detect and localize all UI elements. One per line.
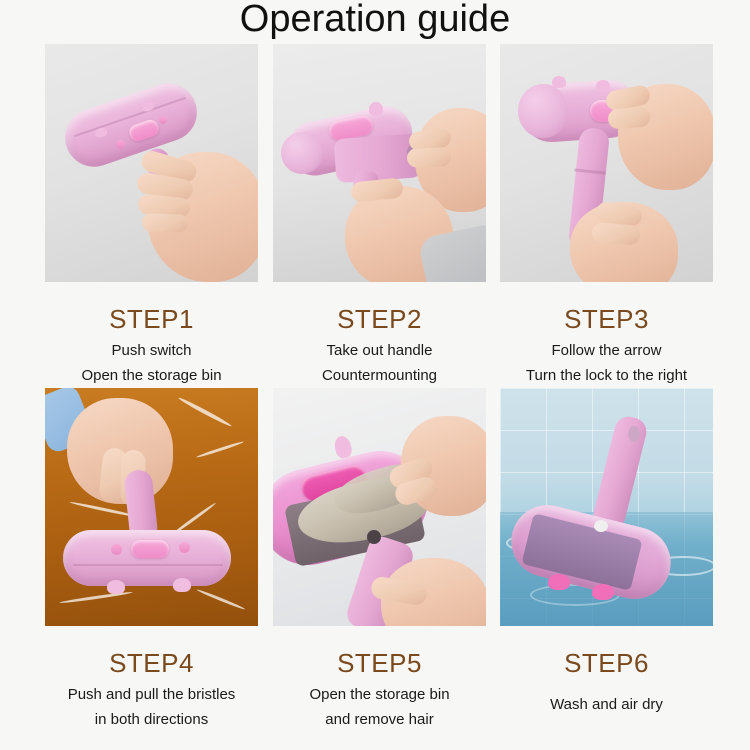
operation-guide-page: Operation guide [0, 0, 750, 750]
roller-dot-right [179, 542, 190, 553]
step-line-1: Open the storage bin [273, 678, 486, 707]
step-caption-step5: STEP5 Open the storage bin and remove ha… [273, 626, 486, 732]
step-title: STEP6 [500, 648, 713, 678]
step-card-step5: STEP5 Open the storage bin and remove ha… [273, 388, 486, 732]
step-title: STEP4 [45, 648, 258, 678]
step-card-step6: STEP6 Wash and air dry [500, 388, 713, 717]
step-title: STEP1 [45, 304, 258, 334]
switch-button [131, 540, 169, 558]
step-line-2: and remove hair [273, 707, 486, 732]
step-line-1: Push switch [45, 334, 258, 363]
roller-hook [552, 76, 566, 88]
finger-lower-2 [591, 222, 640, 245]
roller-foot-left [107, 580, 125, 594]
roller-end-cap [518, 84, 568, 138]
step-line-2: Turn the lock to the right [500, 363, 713, 388]
handle-lock [367, 530, 381, 544]
roller-dot-right [159, 116, 167, 124]
roller-body [63, 530, 231, 586]
steps-row-bottom: STEP4 Push and pull the bristles in both… [45, 388, 713, 750]
step-caption-step1: STEP1 Push switch Open the storage bin [45, 282, 258, 388]
step-line-2: Open the storage bin [45, 363, 258, 388]
step-photo-step4 [45, 388, 258, 626]
step-card-step1: STEP1 Push switch Open the storage bin [45, 44, 258, 388]
step-line-1: Follow the arrow [500, 334, 713, 363]
roller-foot-left [548, 574, 570, 590]
roller-seam [73, 564, 223, 566]
roller-dot-left [116, 140, 125, 149]
step-caption-step4: STEP4 Push and pull the bristles in both… [45, 626, 258, 732]
step-title: STEP2 [273, 304, 486, 334]
steps-row-top: STEP1 Push switch Open the storage bin [45, 44, 713, 388]
roller-end-cap [281, 132, 323, 174]
step-card-step3: STEP3 Follow the arrow Turn the lock to … [500, 44, 713, 388]
step-photo-step1 [45, 44, 258, 282]
step-line-1: Take out handle [273, 334, 486, 363]
step-title: STEP5 [273, 648, 486, 678]
finger-little [142, 213, 189, 233]
step-photo-step3 [500, 44, 713, 282]
step-photo-step6 [500, 388, 713, 626]
step-card-step4: STEP4 Push and pull the bristles in both… [45, 388, 258, 732]
step-line-2: in both directions [45, 707, 258, 732]
handle-hang-hole [628, 426, 640, 442]
step-caption-step3: STEP3 Follow the arrow Turn the lock to … [500, 282, 713, 388]
page-title: Operation guide [0, 0, 750, 42]
step-line-1: Wash and air dry [500, 678, 713, 717]
roller-foot-right [592, 584, 614, 600]
steps-grid: STEP1 Push switch Open the storage bin [45, 44, 713, 750]
roller-hook-2 [596, 80, 610, 92]
step-card-step2: STEP2 Take out handle Countermounting [273, 44, 486, 388]
step-caption-step2: STEP2 Take out handle Countermounting [273, 282, 486, 388]
step-title: STEP3 [500, 304, 713, 334]
step-line-2: Countermounting [273, 363, 486, 388]
handle-lock [594, 520, 608, 532]
finger-upper-2 [407, 147, 452, 168]
step-line-1: Push and pull the bristles [45, 678, 258, 707]
finger-upper-2 [607, 107, 650, 130]
roller-dot-left [111, 544, 122, 555]
step-photo-step2 [273, 44, 486, 282]
step-caption-step6: STEP6 Wash and air dry [500, 626, 713, 717]
step-photo-step5 [273, 388, 486, 626]
roller-hook [369, 102, 383, 116]
roller-foot-right [173, 578, 191, 592]
